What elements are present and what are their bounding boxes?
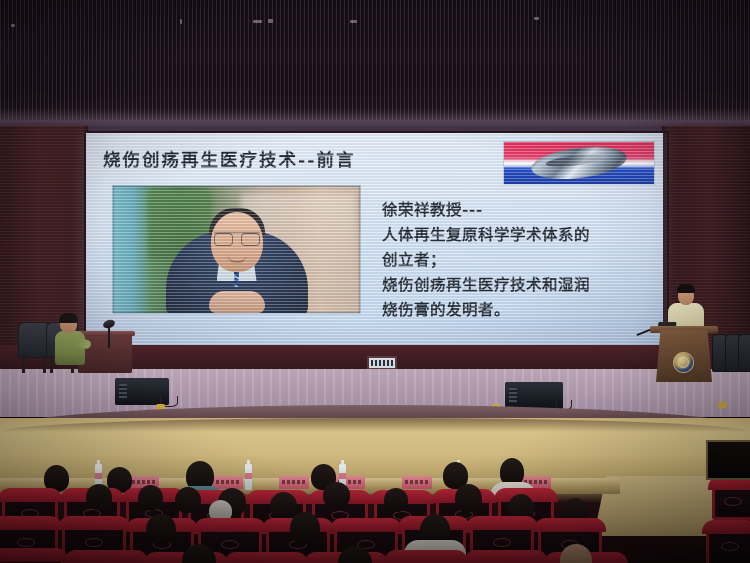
audience-head [290, 512, 320, 544]
audience-seat [468, 554, 544, 563]
av-operator-body [55, 331, 85, 365]
desk-microphone-stand [108, 326, 110, 348]
chair-leg [43, 355, 46, 373]
projection-screen: 烧伤创疡再生医疗技术--前言 徐荣祥教授--- [86, 133, 663, 345]
audience-seat [388, 554, 464, 563]
stage-chair [738, 334, 750, 372]
chair-leg [22, 355, 25, 373]
slide-body-text: 徐荣祥教授--- 人体再生复原科学学术体系的 创立者； 烧伤创疡再生医疗技术和湿… [382, 197, 650, 322]
logo-disc-icon [530, 142, 629, 183]
ceiling-light-spot [11, 24, 15, 27]
conference-hall-screenshot: 烧伤创疡再生医疗技术--前言 徐荣祥教授--- [0, 0, 750, 563]
slide-body-line: 人体再生复原科学学术体系的 [382, 222, 650, 247]
presentation-slide: 烧伤创疡再生医疗技术--前言 徐荣祥教授--- [86, 133, 663, 345]
audience-head [323, 482, 350, 508]
audience-seat [712, 480, 750, 520]
audience-head [146, 514, 176, 544]
chair-leg [50, 355, 53, 373]
screen-status-panel [367, 356, 397, 370]
name-placard [402, 476, 432, 489]
audience-area [0, 452, 750, 563]
ceiling-light-spot [268, 19, 273, 23]
portrait-glasses-icon [214, 232, 260, 245]
audience-head [86, 484, 112, 510]
audience-seat [706, 524, 750, 563]
audience-seat [0, 552, 64, 563]
audience-head [384, 488, 408, 512]
ceiling-light-spot [534, 17, 539, 20]
institution-crest-icon [673, 352, 694, 373]
ceiling-light-spot [253, 20, 262, 23]
audience-seat [68, 554, 144, 563]
slide-body-line: 烧伤膏的发明者。 [382, 297, 650, 322]
av-operator [55, 315, 87, 373]
ceiling-light-spot [180, 19, 182, 24]
presenter-hair [677, 284, 695, 293]
floor-socket [718, 402, 727, 408]
slide-logo [503, 141, 655, 185]
av-operator-hair [59, 313, 78, 323]
slide-title: 烧伤创疡再生医疗技术--前言 [103, 147, 356, 172]
stage-chairs-right [712, 334, 750, 382]
slide-body-line: 创立者； [382, 247, 650, 272]
slide-body-line: 徐荣祥教授--- [382, 197, 650, 222]
audience-head [455, 484, 482, 512]
exit-door [706, 440, 750, 480]
portrait-clasped-hands [209, 291, 265, 313]
name-placard [213, 476, 243, 489]
audience-head [138, 485, 163, 510]
water-bottle [245, 464, 252, 490]
audience-seat [228, 556, 304, 563]
name-placard [279, 476, 309, 489]
slide-body-line: 烧伤创疡再生医疗技术和湿润 [382, 272, 650, 297]
slide-portrait-photo [112, 185, 361, 314]
ceiling-light-spot [350, 20, 357, 23]
stage-monitor-right [505, 382, 563, 409]
audience-head [270, 492, 297, 519]
audience-head [175, 487, 201, 513]
back-wall-curtain [0, 0, 750, 126]
